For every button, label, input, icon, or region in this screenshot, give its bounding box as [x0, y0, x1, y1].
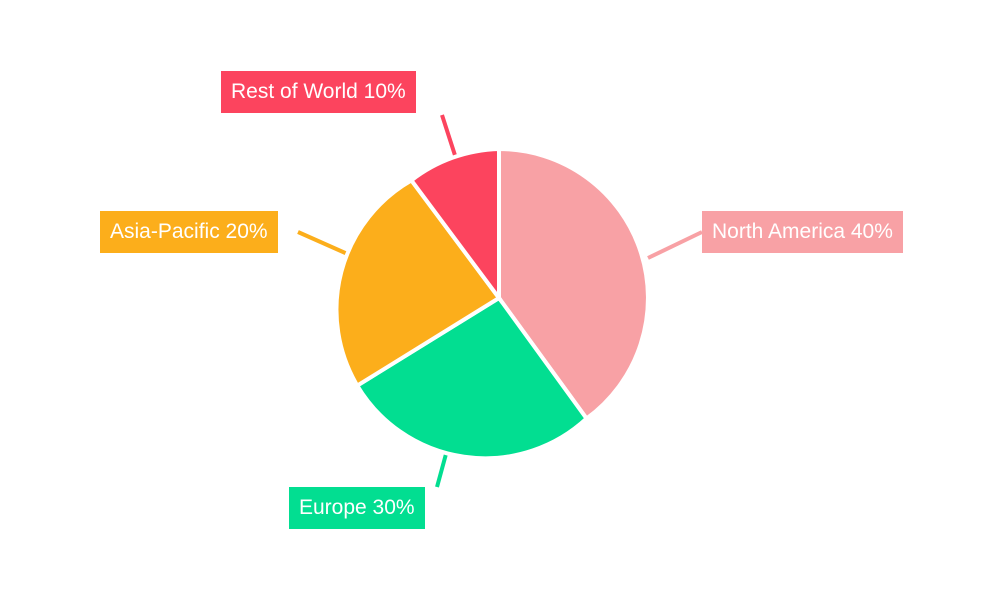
leader-line-asia-pacific — [298, 232, 352, 256]
pie-label-north-america: North America 40% — [702, 211, 903, 253]
pie-chart: North America 40% Europe 30% Asia-Pacifi… — [0, 0, 1000, 600]
pie-label-rest-of-world: Rest of World 10% — [221, 71, 416, 113]
pie-label-asia-pacific: Asia-Pacific 20% — [100, 211, 278, 253]
pie-label-europe: Europe 30% — [289, 487, 425, 529]
pie-chart-canvas — [0, 0, 1000, 600]
leader-line-north-america — [648, 232, 702, 258]
